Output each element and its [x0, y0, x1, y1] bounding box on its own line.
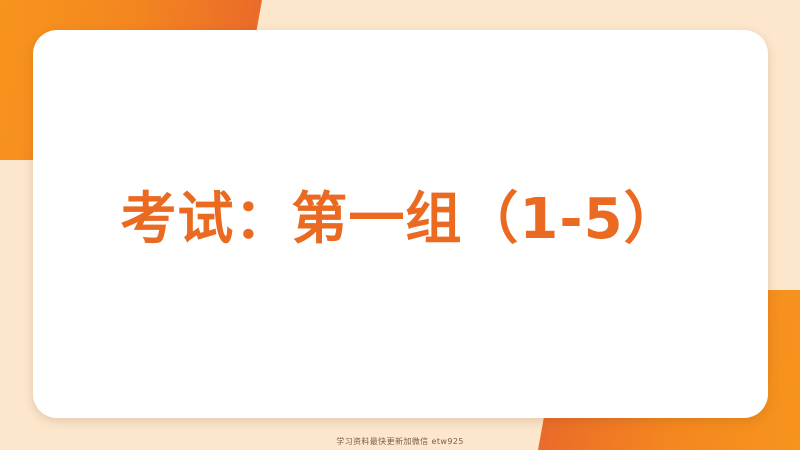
- content-card: 考试：第一组（1-5）: [33, 30, 768, 418]
- footer-watermark: 学习资料最快更新加微信 etw925: [0, 436, 800, 447]
- slide-canvas: 考试：第一组（1-5） 学习资料最快更新加微信 etw925: [0, 0, 800, 450]
- slide-title: 考试：第一组（1-5）: [120, 189, 680, 259]
